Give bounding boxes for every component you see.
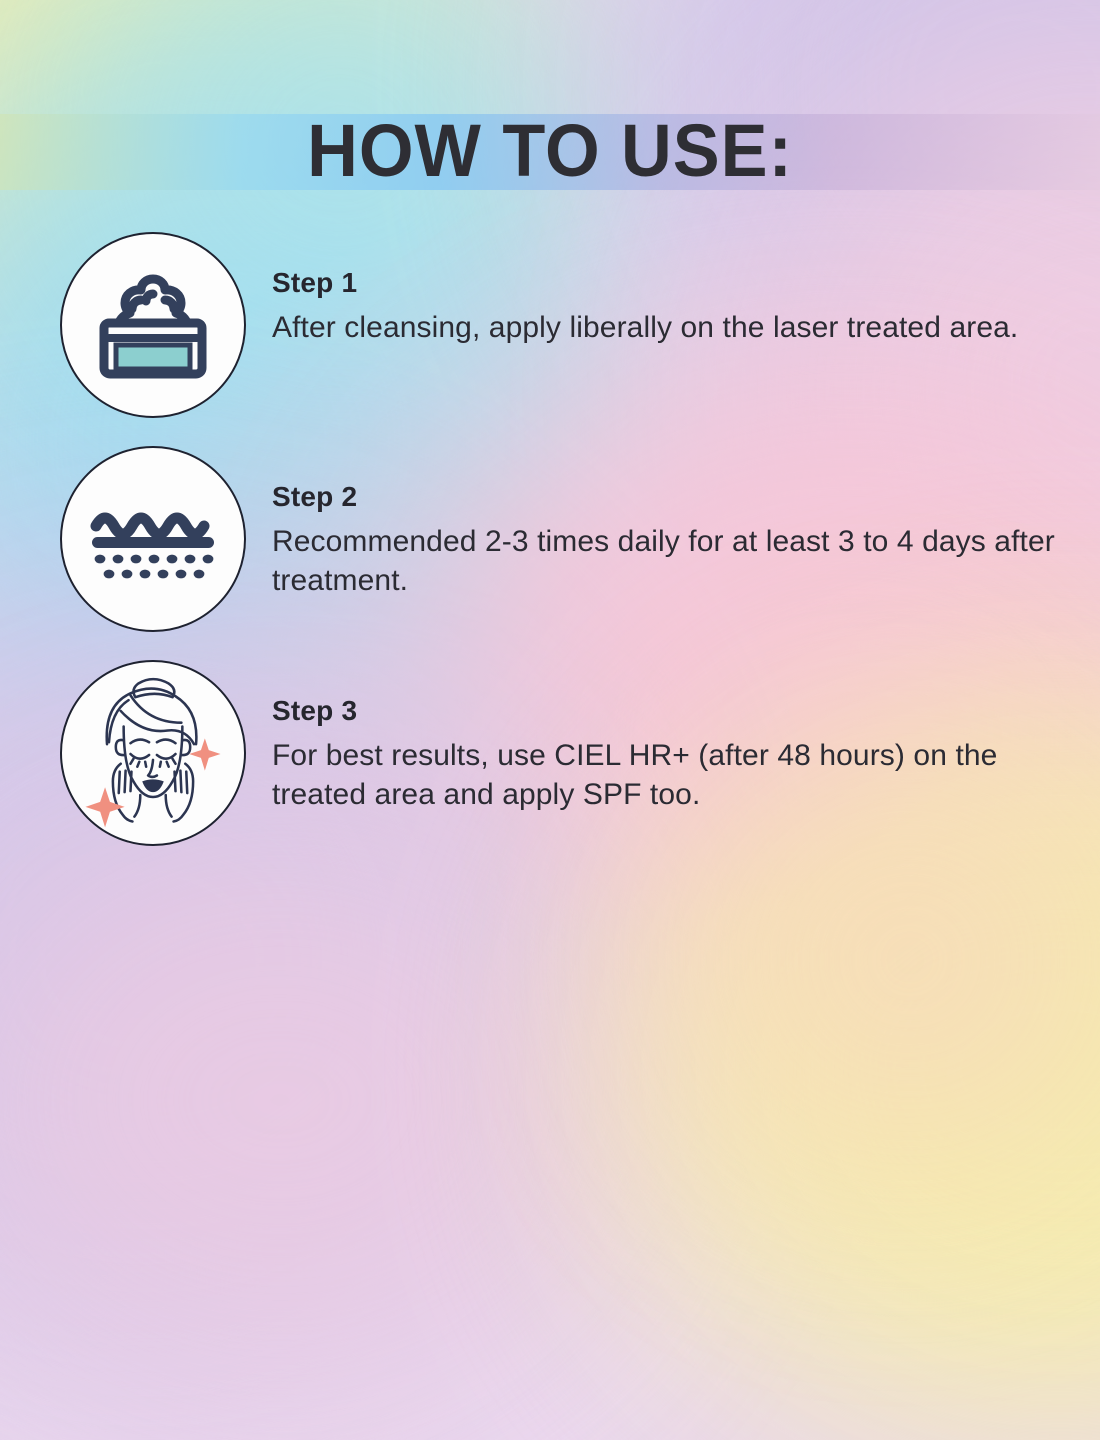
lips (142, 779, 164, 792)
step-2-icon-badge (60, 446, 246, 632)
steps-list: Step 1 After cleansing, apply liberally … (0, 232, 1100, 874)
nose (148, 760, 157, 777)
step-description: Recommended 2-3 times daily for at least… (272, 522, 1076, 600)
step-3-icon-badge (60, 660, 246, 846)
skin-surface-wave (96, 518, 204, 534)
skin-dots-row-2 (104, 570, 205, 579)
skin-layer-bar (92, 537, 214, 548)
list-item: Step 3 For best results, use CIEL HR+ (a… (0, 660, 1100, 874)
skin-layers-icon (78, 464, 228, 614)
step-2-text: Step 2 Recommended 2-3 times daily for a… (272, 480, 1076, 600)
step-label: Step 1 (272, 266, 1076, 300)
step-1-text: Step 1 After cleansing, apply liberally … (272, 266, 1076, 347)
step-3-text: Step 3 For best results, use CIEL HR+ (a… (272, 694, 1076, 814)
cream-jar-icon (78, 250, 228, 400)
hair-strand (130, 695, 181, 722)
neck (134, 795, 171, 817)
hair-sweep-left (109, 700, 129, 742)
lashes-left (130, 759, 146, 767)
list-item: Step 2 Recommended 2-3 times daily for a… (0, 446, 1100, 660)
step-description: After cleansing, apply liberally on the … (272, 308, 1076, 347)
eyebrow-right (157, 740, 176, 744)
list-item: Step 1 After cleansing, apply liberally … (0, 232, 1100, 446)
jar-label (116, 345, 190, 369)
page-title: HOW TO USE: (28, 108, 1073, 194)
lashes-right (160, 759, 176, 767)
step-label: Step 2 (272, 480, 1076, 514)
eyebrow-left (130, 740, 149, 744)
step-1-icon-badge (60, 232, 246, 418)
step-description: For best results, use CIEL HR+ (after 48… (272, 736, 1076, 814)
skin-dots-row-1 (95, 555, 214, 564)
step-label: Step 3 (272, 694, 1076, 728)
face-skincare-icon (62, 660, 244, 846)
